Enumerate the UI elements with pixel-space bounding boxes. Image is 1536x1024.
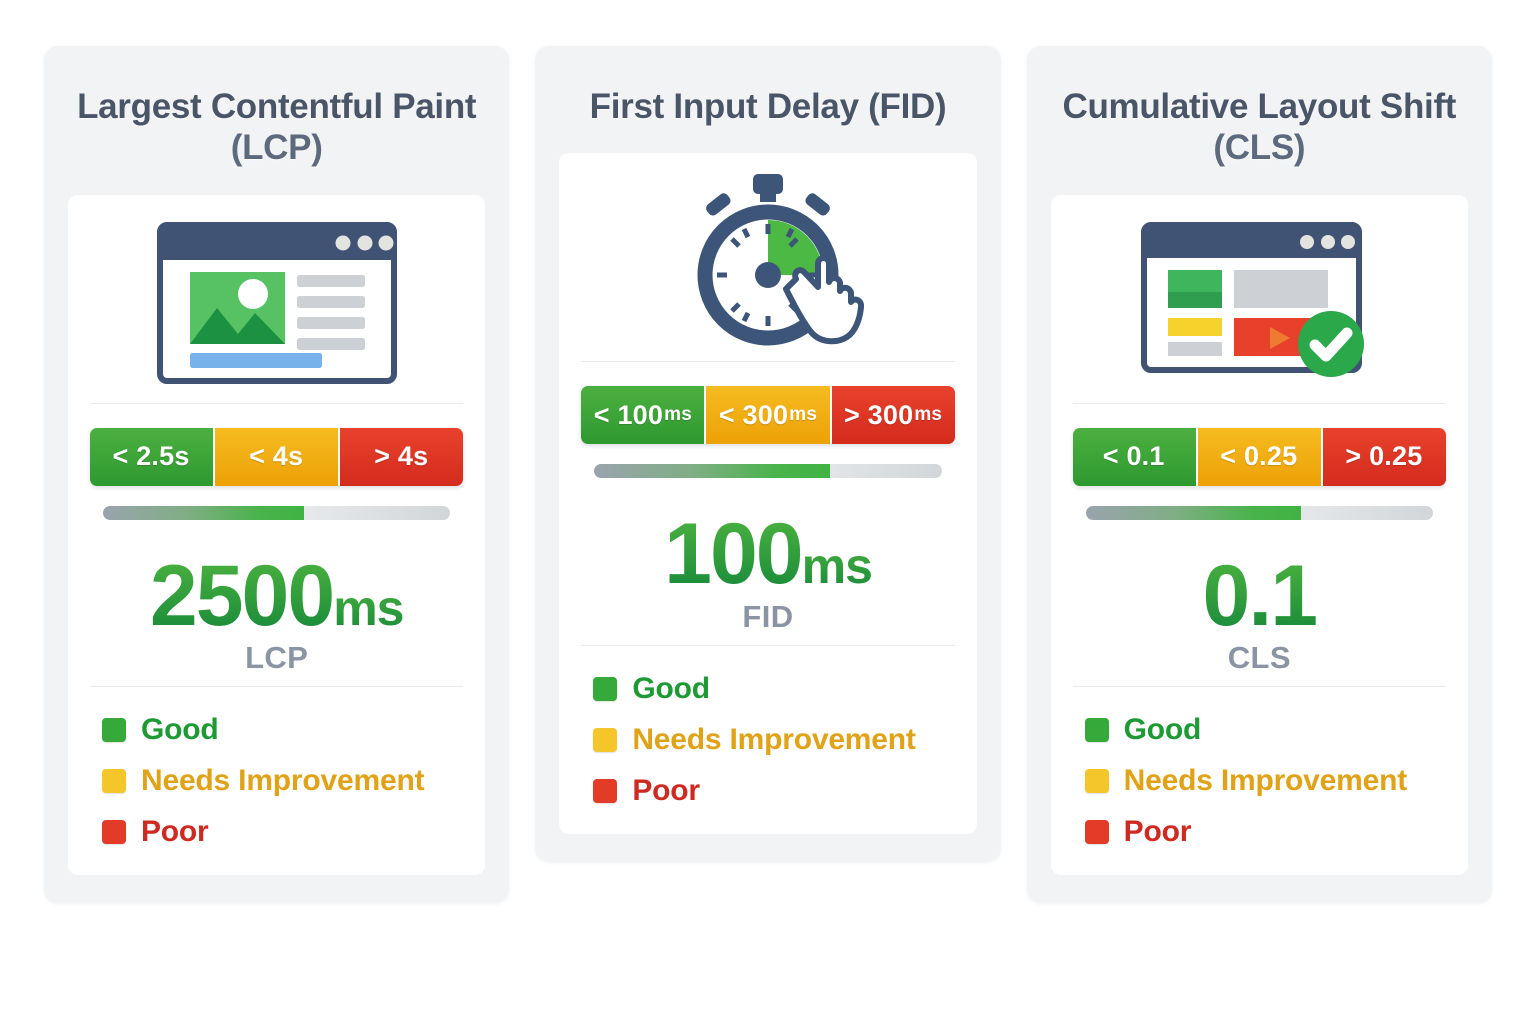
legend-swatch-needs-improvement-icon <box>102 769 126 793</box>
progress-fill-lcp <box>103 506 304 520</box>
threshold-good-label: < 100 <box>594 400 663 431</box>
browser-layout-check-icon <box>1073 213 1446 393</box>
threshold-ni-label: < 4s <box>249 441 303 472</box>
threshold-ni-label: < 0.25 <box>1220 441 1297 472</box>
threshold-poor-fid[interactable]: > 300ms <box>830 386 955 444</box>
legend-label-good: Good <box>141 713 219 747</box>
metric-card-fid: First Input Delay (FID) <box>535 46 1000 862</box>
threshold-poor-label: > 4s <box>374 441 428 472</box>
metric-value-block-lcp: 2500ms LCP <box>90 554 463 676</box>
threshold-poor-lcp[interactable]: > 4s <box>338 428 463 486</box>
legend-swatch-good-icon <box>1085 718 1109 742</box>
legend-swatch-poor-icon <box>593 779 617 803</box>
legend-item-poor-cls: Poor <box>1085 815 1446 849</box>
legend-label-poor: Poor <box>141 815 209 849</box>
legend-label-good: Good <box>1124 713 1202 747</box>
progress-bar-cls[interactable] <box>1086 506 1433 520</box>
threshold-poor-cls[interactable]: > 0.25 <box>1321 428 1446 486</box>
page-title-lcp: Largest Contentful Paint (LCP) <box>68 86 485 195</box>
metric-label-fid: FID <box>581 599 954 635</box>
legend-label-poor: Poor <box>632 774 700 808</box>
card-title-line1: Largest Contentful Paint <box>77 87 476 126</box>
legend-swatch-poor-icon <box>1085 820 1109 844</box>
metric-card-cls: Cumulative Layout Shift (CLS) <box>1027 46 1492 903</box>
threshold-good-label: < 2.5s <box>113 441 190 472</box>
threshold-ni-label: < 300 <box>719 400 788 431</box>
metric-value-block-cls: 0.1 CLS <box>1073 554 1446 676</box>
metric-value-block-fid: 100ms FID <box>581 512 954 634</box>
legend-item-poor-fid: Poor <box>593 774 954 808</box>
legend-item-needs-improvement-lcp: Needs Improvement <box>102 764 463 798</box>
legend-label-good: Good <box>632 672 710 706</box>
divider-top-fid <box>581 361 954 362</box>
card-title-line2: (LCP) <box>231 128 323 167</box>
legend-item-needs-improvement-fid: Needs Improvement <box>593 723 954 757</box>
progress-bar-fid[interactable] <box>594 464 941 478</box>
legend-swatch-poor-icon <box>102 820 126 844</box>
metric-card-lcp: Largest Contentful Paint (LCP) <box>44 46 509 903</box>
page-title-fid: First Input Delay (FID) <box>584 86 953 153</box>
panel-lcp: < 2.5s < 4s > 4s 2500ms LCP <box>68 195 485 875</box>
legend-item-poor-lcp: Poor <box>102 815 463 849</box>
metric-label-lcp: LCP <box>90 640 463 676</box>
legend-item-good-lcp: Good <box>102 713 463 747</box>
threshold-good-cls[interactable]: < 0.1 <box>1073 428 1196 486</box>
metric-unit-lcp: ms <box>333 579 403 637</box>
legend-swatch-good-icon <box>593 677 617 701</box>
legend-label-needs-improvement: Needs Improvement <box>1124 764 1407 798</box>
page-title-cls: Cumulative Layout Shift (CLS) <box>1051 86 1468 195</box>
legend-cls: Good Needs Improvement Poor <box>1073 713 1446 849</box>
threshold-needs-improvement-cls[interactable]: < 0.25 <box>1196 428 1321 486</box>
threshold-needs-improvement-lcp[interactable]: < 4s <box>213 428 338 486</box>
panel-cls: < 0.1 < 0.25 > 0.25 0.1 CLS <box>1051 195 1468 875</box>
metric-unit-fid: ms <box>802 537 872 595</box>
threshold-poor-label: > 0.25 <box>1345 441 1422 472</box>
legend-label-needs-improvement: Needs Improvement <box>141 764 424 798</box>
divider-top-lcp <box>90 403 463 404</box>
threshold-good-label: < 0.1 <box>1103 441 1165 472</box>
threshold-needs-improvement-fid[interactable]: < 300ms <box>704 386 829 444</box>
legend-lcp: Good Needs Improvement Poor <box>90 713 463 849</box>
legend-item-good-cls: Good <box>1085 713 1446 747</box>
panel-fid: < 100ms < 300ms > 300ms 100ms FID <box>559 153 976 833</box>
metric-value-fid: 100 <box>664 512 802 596</box>
threshold-good-unit: ms <box>664 404 692 426</box>
threshold-good-lcp[interactable]: < 2.5s <box>90 428 213 486</box>
divider-bottom-fid <box>581 645 954 646</box>
legend-label-needs-improvement: Needs Improvement <box>632 723 915 757</box>
card-title-line1: Cumulative Layout Shift <box>1062 87 1456 126</box>
threshold-poor-unit: ms <box>914 404 942 426</box>
threshold-good-fid[interactable]: < 100ms <box>581 386 704 444</box>
progress-fill-fid <box>594 464 830 478</box>
metric-label-cls: CLS <box>1073 640 1446 676</box>
threshold-bar-fid: < 100ms < 300ms > 300ms <box>581 386 954 444</box>
progress-fill-cls <box>1086 506 1301 520</box>
threshold-poor-label: > 300 <box>844 400 913 431</box>
legend-swatch-needs-improvement-icon <box>593 728 617 752</box>
metric-value-lcp: 2500 <box>150 554 333 638</box>
progress-bar-lcp[interactable] <box>103 506 450 520</box>
card-title-line2: (CLS) <box>1213 128 1305 167</box>
threshold-bar-cls: < 0.1 < 0.25 > 0.25 <box>1073 428 1446 486</box>
legend-swatch-needs-improvement-icon <box>1085 769 1109 793</box>
divider-bottom-cls <box>1073 686 1446 687</box>
threshold-ni-unit: ms <box>789 404 817 426</box>
divider-bottom-lcp <box>90 686 463 687</box>
stopwatch-tap-icon <box>581 171 954 351</box>
threshold-bar-lcp: < 2.5s < 4s > 4s <box>90 428 463 486</box>
core-web-vitals-board: Largest Contentful Paint (LCP) <box>0 0 1536 1024</box>
legend-item-needs-improvement-cls: Needs Improvement <box>1085 764 1446 798</box>
legend-item-good-fid: Good <box>593 672 954 706</box>
legend-label-poor: Poor <box>1124 815 1192 849</box>
card-title-line1: First Input Delay (FID) <box>590 87 947 126</box>
metric-value-cls: 0.1 <box>1203 554 1317 638</box>
legend-swatch-good-icon <box>102 718 126 742</box>
divider-top-cls <box>1073 403 1446 404</box>
legend-fid: Good Needs Improvement Poor <box>581 672 954 808</box>
browser-image-layout-icon <box>90 213 463 393</box>
